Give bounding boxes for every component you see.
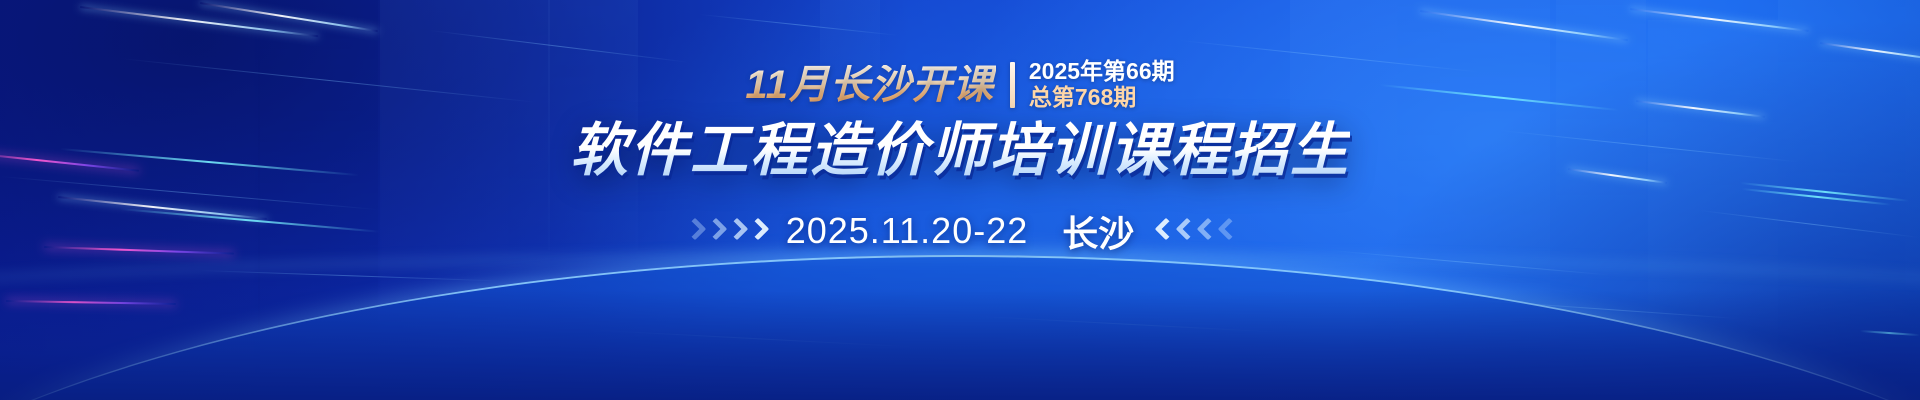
page-title: 软件工程造价师培训课程招生 — [570, 120, 1350, 183]
chevron-right-icon — [727, 217, 745, 245]
kicker-text: 11月长沙开课 — [745, 65, 996, 105]
chevron-right-icon — [706, 217, 724, 245]
chevron-right-icon — [685, 217, 703, 245]
issue-year-label: 2025年第66期 — [1029, 59, 1175, 85]
chevron-left-icon — [1175, 217, 1193, 245]
event-city: 长沙 — [1062, 205, 1134, 257]
event-date: 2025.11.20-22 — [786, 210, 1029, 252]
issue-total-label: 总第768期 — [1029, 85, 1175, 111]
chevron-left-icon — [1217, 217, 1235, 245]
issue-block: 2025年第66期 总第768期 — [1029, 59, 1175, 111]
eyebrow-row: 11月长沙开课 2025年第66期 总第768期 — [745, 56, 1174, 114]
chevron-right-icon — [748, 217, 766, 245]
banner-content: 11月长沙开课 2025年第66期 总第768期 软件工程造价师培训课程招生 2… — [0, 0, 1920, 400]
chevron-left-group-icon — [1154, 217, 1235, 245]
date-row: 2025.11.20-22 长沙 — [685, 205, 1236, 257]
course-promo-banner: 11月长沙开课 2025年第66期 总第768期 软件工程造价师培训课程招生 2… — [0, 0, 1920, 400]
chevron-left-icon — [1196, 217, 1214, 245]
chevron-right-group-icon — [685, 217, 766, 245]
chevron-left-icon — [1154, 217, 1172, 245]
vertical-divider — [1010, 62, 1015, 108]
